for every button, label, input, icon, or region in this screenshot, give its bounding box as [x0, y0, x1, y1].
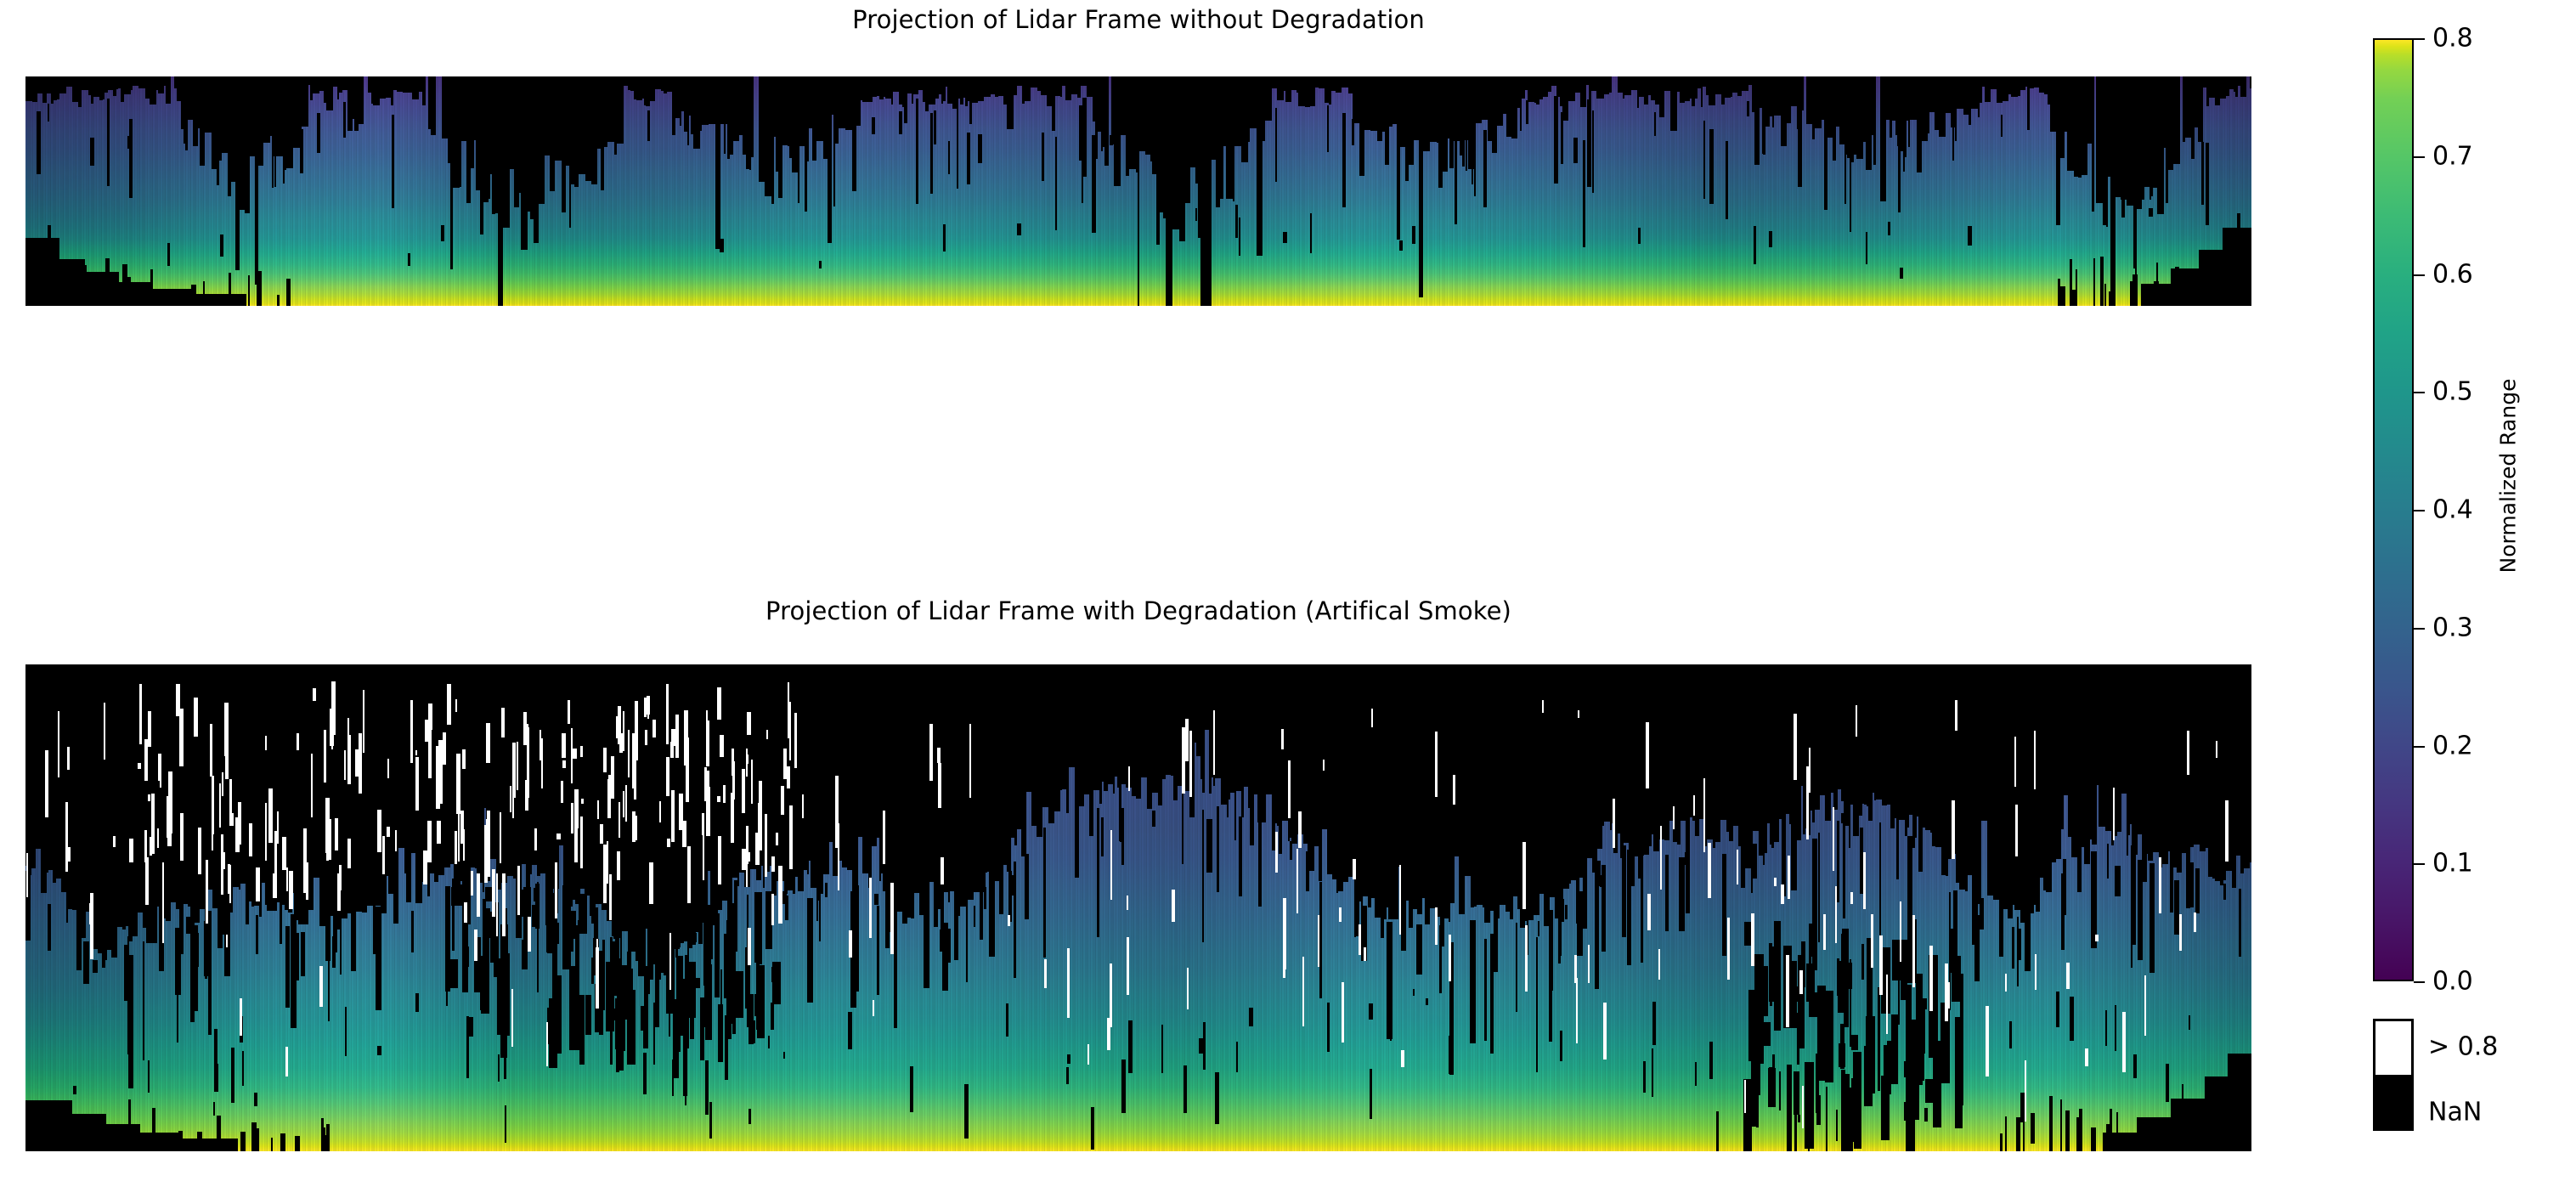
nan-column	[1709, 76, 1715, 105]
smoke-nan-finger	[83, 941, 89, 984]
nan-speck	[1121, 1060, 1126, 1113]
smoke-nan-column	[1959, 664, 1965, 890]
over-range-speck	[755, 833, 760, 864]
smoke-nan-cluster	[599, 951, 603, 1034]
over-range-streak	[1929, 946, 1933, 1011]
nan-speck	[964, 1084, 969, 1139]
over-range-streak	[1603, 1003, 1607, 1060]
over-range-speck	[256, 867, 260, 901]
nan-speck	[1904, 1102, 1906, 1121]
smoke-nan-cluster	[771, 1003, 774, 1029]
nan-column	[422, 76, 426, 105]
nan-column	[2185, 76, 2191, 138]
smoke-nan-cluster	[1923, 1002, 1925, 1054]
over-range-streak	[1802, 1086, 1804, 1128]
over-range-speck	[1576, 978, 1578, 1043]
smoke-nan-finger	[2017, 917, 2019, 987]
over-range-speck	[337, 873, 341, 912]
over-range-speck	[344, 750, 346, 780]
nan-column	[709, 76, 715, 124]
nan-spike	[1897, 131, 1899, 147]
over-range-speck	[1281, 729, 1284, 749]
smoke-nan-finger	[2091, 851, 2097, 948]
over-range-speck	[666, 684, 669, 744]
nan-column	[1200, 76, 1206, 306]
smoke-nan-finger	[1490, 934, 1494, 1053]
over-range-speck	[574, 825, 578, 862]
over-range-speck	[148, 711, 151, 747]
over-range-speck	[1823, 914, 1826, 950]
over-range-speck	[555, 862, 557, 918]
nan-column	[2173, 76, 2180, 164]
nan-column	[359, 76, 364, 124]
nan-corner-spike	[62, 268, 66, 306]
nan-column	[276, 76, 283, 156]
nan-spike	[1455, 127, 1457, 224]
smoke-nan-cluster	[1808, 1084, 1810, 1151]
smoke-nan-column	[1745, 664, 1751, 868]
over-range-speck	[1182, 727, 1185, 794]
smoke-nan-cluster	[1851, 1035, 1858, 1050]
nan-spike	[1474, 122, 1476, 174]
nan-corner-spike	[248, 275, 250, 306]
nan-spike	[2162, 142, 2164, 208]
nan-corner-spike	[85, 1122, 90, 1151]
over-range-speck	[1788, 856, 1790, 899]
nan-spike	[1163, 107, 1166, 182]
nan-corner-spike	[2060, 1099, 2062, 1151]
over-range-speck	[682, 821, 686, 848]
nan-spike	[1654, 112, 1656, 136]
over-range-speck	[649, 862, 653, 904]
over-range-speck	[1879, 935, 1883, 995]
smoke-nan-cluster	[1861, 944, 1864, 980]
nan-spike	[2110, 140, 2112, 249]
over-range-speck	[1435, 732, 1438, 798]
smoke-nan-cluster	[705, 964, 712, 1040]
nan-speck	[1203, 1022, 1206, 1070]
smoke-nan-cluster	[1837, 958, 1839, 996]
nan-corner-spike	[2016, 1117, 2020, 1151]
nan-column	[2067, 76, 2074, 171]
smoke-nan-cluster	[1825, 991, 1833, 1082]
smoke-nan-column	[2084, 664, 2090, 864]
over-range-speck	[194, 698, 198, 737]
over-range-speck	[500, 812, 501, 864]
smoke-nan-finger	[894, 905, 897, 1028]
nan-speck	[1199, 1038, 1203, 1054]
over-range-speck	[1435, 907, 1438, 945]
smoke-nan-finger	[1722, 854, 1726, 955]
over-range-streak	[240, 998, 242, 1037]
smoke-nan-cluster	[730, 975, 737, 1013]
smoke-nan-finger	[853, 901, 856, 941]
smoke-nan-column	[1297, 664, 1303, 834]
over-range-speck	[789, 805, 793, 869]
over-range-speck	[427, 821, 432, 862]
nan-column	[373, 76, 380, 105]
nan-speck	[1888, 222, 1890, 235]
smoke-nan-finger	[208, 931, 210, 945]
over-range-speck	[151, 794, 155, 855]
smoke-nan-cluster	[1794, 1071, 1799, 1115]
nan-column	[1370, 76, 1377, 131]
over-range-speck	[574, 789, 579, 828]
nan-speck	[1449, 1036, 1453, 1073]
nan-column	[585, 76, 591, 181]
colorbar[interactable]: 0.00.10.20.30.40.50.60.70.8	[2373, 38, 2414, 981]
nan-corner-step	[25, 294, 246, 306]
over-range-speck	[198, 828, 201, 874]
nan-speck	[720, 239, 724, 253]
over-range-speck	[645, 730, 647, 745]
over-range-speck	[1296, 849, 1298, 914]
smoke-nan-column	[1215, 664, 1221, 778]
over-range-speck	[539, 730, 541, 760]
nan-corner-spike	[239, 300, 241, 306]
nan-spike	[1327, 105, 1329, 152]
nan-column	[1624, 76, 1631, 95]
smoke-nan-column	[342, 664, 347, 918]
nan-column	[984, 76, 991, 97]
over-range-speck	[1850, 892, 1853, 905]
nan-column	[591, 76, 597, 184]
nan-corner-spike	[2175, 267, 2179, 306]
over-range-speck	[1525, 925, 1528, 992]
smoke-nan-finger	[1577, 891, 1583, 956]
smoke-nan-finger	[186, 917, 191, 934]
nan-spike	[807, 94, 809, 161]
nan-column	[133, 76, 138, 86]
nan-spike	[1118, 114, 1122, 132]
nan-column	[286, 76, 293, 168]
nan-column	[302, 76, 308, 127]
nan-column	[166, 76, 171, 104]
nan-speck	[2149, 208, 2153, 217]
over-range-speck	[759, 781, 762, 823]
nan-speck	[1195, 208, 1197, 220]
nan-corner-spike	[2076, 269, 2077, 306]
over-range-speck	[1359, 924, 1361, 955]
nan-speck	[1709, 1042, 1713, 1079]
over-range-speck	[1318, 915, 1319, 967]
smoke-nan-column	[477, 664, 483, 883]
over-range-speck	[835, 776, 839, 848]
over-range-speck	[517, 866, 520, 915]
nan-corner-spike	[187, 290, 189, 306]
nan-column	[1353, 76, 1359, 123]
lidar-projection-panel-without-degradation[interactable]	[25, 76, 2251, 306]
nan-column	[138, 76, 145, 88]
nan-column	[555, 76, 562, 161]
over-range-speck	[771, 856, 775, 872]
smoke-nan-finger	[1841, 813, 1847, 824]
smoke-nan-finger	[1595, 873, 1599, 990]
nan-speck	[1866, 232, 1867, 264]
nan-speck	[1754, 226, 1756, 265]
smoke-nan-cluster	[571, 920, 573, 940]
nan-speck	[1249, 1008, 1253, 1027]
nan-spike	[569, 142, 571, 228]
smoke-nan-cluster	[1763, 1022, 1771, 1046]
over-range-speck	[1955, 700, 1957, 731]
smoke-nan-finger	[1516, 923, 1517, 1012]
nan-column	[25, 76, 32, 101]
nan-speck	[1017, 223, 1021, 235]
nan-column	[952, 76, 958, 109]
smoke-nan-finger	[2195, 868, 2200, 913]
over-range-speck	[2216, 741, 2217, 758]
nan-speck	[1327, 1003, 1330, 1052]
nan-corner-spike	[197, 1132, 202, 1151]
smoke-nan-finger	[332, 936, 336, 968]
nan-column	[733, 76, 739, 141]
smoke-nan-finger	[715, 913, 720, 997]
nan-column	[1342, 76, 1348, 88]
nan-speck	[1968, 226, 1972, 246]
over-range-speck	[180, 813, 184, 862]
nan-spike	[343, 102, 346, 138]
smoke-nan-cluster	[718, 1004, 723, 1062]
over-range-speck	[144, 739, 148, 780]
over-range-speck	[210, 724, 212, 777]
nan-corner-spike	[2226, 1105, 2228, 1151]
over-range-speck	[517, 742, 518, 790]
smoke-nan-finger	[807, 898, 813, 1003]
nan-corner-spike	[68, 1140, 70, 1151]
smoke-nan-cluster	[647, 918, 653, 980]
smoke-nan-column	[111, 664, 117, 958]
nan-column	[1423, 76, 1430, 151]
smoke-nan-cluster	[690, 933, 697, 942]
smoke-nan-cluster	[532, 905, 537, 926]
over-range-speck	[1399, 865, 1401, 935]
nan-spike	[1573, 138, 1578, 163]
nan-spike	[1483, 130, 1487, 207]
smoke-nan-column	[1876, 664, 1882, 800]
nan-corner-spike	[203, 281, 205, 306]
nan-speck	[1900, 268, 1903, 279]
over-range-speck	[238, 802, 241, 845]
nan-corner-spike	[321, 1135, 326, 1151]
smoke-nan-finger	[819, 886, 821, 941]
smoke-nan-cluster	[490, 912, 494, 963]
nan-corner-spike	[138, 1139, 141, 1151]
nan-column	[2167, 76, 2173, 170]
smoke-nan-cluster	[630, 930, 638, 952]
over-range-speck	[1127, 896, 1128, 910]
smoke-nan-cluster	[549, 998, 557, 1068]
smoke-nan-finger	[825, 883, 828, 897]
nan-column	[636, 76, 642, 100]
over-range-speck	[623, 711, 624, 751]
smoke-nan-cluster	[1891, 1014, 1898, 1084]
nan-column	[1081, 76, 1087, 86]
nan-spike	[967, 133, 970, 184]
nan-corner-spike	[2093, 258, 2095, 306]
nan-speck	[73, 1086, 76, 1094]
smoke-nan-cluster	[1925, 1079, 1933, 1103]
over-range-speck	[1647, 894, 1651, 930]
smoke-nan-finger	[1025, 854, 1029, 919]
nan-corner-spike	[2151, 1122, 2154, 1151]
nan-spike	[833, 116, 835, 206]
over-range-speck	[2095, 935, 2099, 941]
nan-column	[1725, 76, 1731, 98]
over-range-speck	[265, 736, 267, 750]
nan-column	[1971, 76, 1978, 109]
smoke-nan-finger	[1597, 861, 1601, 886]
over-range-speck	[67, 747, 70, 770]
over-range-speck	[148, 794, 150, 800]
nan-column	[124, 76, 131, 94]
nan-spike	[1726, 141, 1728, 219]
smoke-nan-cluster	[1850, 959, 1851, 1047]
smoke-nan-column	[1544, 664, 1550, 926]
smoke-nan-finger	[1627, 850, 1631, 964]
smoke-nan-column	[1093, 664, 1099, 790]
nan-column	[503, 76, 510, 228]
nan-column	[607, 76, 614, 142]
over-range-speck	[669, 933, 671, 990]
smoke-nan-cluster	[1770, 956, 1772, 1007]
colorbar-tick-label: 0.5	[2432, 377, 2473, 407]
smoke-nan-finger	[285, 926, 290, 1009]
nan-column	[72, 76, 78, 102]
smoke-nan-cluster	[1916, 974, 1923, 1086]
nan-spike	[1561, 112, 1563, 163]
smoke-nan-cluster	[1806, 963, 1815, 1002]
nan-corner-spike	[2106, 1124, 2111, 1151]
over-range-speck	[2113, 788, 2115, 839]
smoke-nan-finger	[2115, 866, 2121, 896]
smoke-nan-cluster	[679, 1003, 682, 1032]
over-range-speck	[1751, 913, 1754, 966]
over-range-speck	[765, 814, 767, 877]
over-range-speck	[502, 873, 506, 936]
over-range-speck	[2194, 913, 2196, 932]
over-range-speck	[303, 853, 306, 893]
nan-spike	[1952, 102, 1954, 161]
smoke-nan-column	[2162, 664, 2168, 864]
smoke-nan-cluster	[660, 890, 664, 973]
over-range-speck	[158, 754, 161, 781]
nan-corner-spike	[2123, 1134, 2125, 1151]
colorbar-tick-mark	[2414, 274, 2425, 276]
nan-column	[412, 76, 419, 99]
smoke-nan-column	[2200, 664, 2206, 851]
over-range-speck	[634, 735, 636, 800]
nan-column	[1764, 76, 1770, 127]
nan-corner-spike	[2156, 263, 2158, 306]
over-range-speck	[138, 763, 141, 769]
over-range-speck	[652, 720, 656, 737]
nan-speck	[1310, 213, 1312, 252]
nan-spike	[957, 106, 958, 189]
over-range-speck	[457, 762, 459, 780]
smoke-nan-cluster	[684, 997, 689, 1048]
nan-speck	[672, 1060, 674, 1096]
nan-speck	[1066, 1067, 1069, 1084]
nan-spike	[916, 99, 918, 204]
smoke-nan-cluster	[724, 934, 731, 998]
nan-speck	[910, 1066, 913, 1113]
over-range-speck	[596, 939, 598, 958]
over-range-speck	[781, 786, 784, 816]
nan-speck	[2115, 1005, 2116, 1051]
nan-speck	[1006, 1003, 1008, 1037]
smoke-nan-finger	[1306, 851, 1309, 891]
nan-spike	[1747, 101, 1749, 116]
over-range-speck	[2015, 805, 2018, 856]
smoke-nan-finger	[942, 923, 948, 992]
smoke-nan-finger	[376, 907, 381, 1010]
smoke-nan-finger	[1980, 898, 1984, 930]
smoke-nan-cluster	[504, 998, 506, 1078]
smoke-nan-column	[924, 664, 929, 988]
nan-spike	[1592, 110, 1594, 193]
over-range-speck	[487, 811, 490, 839]
smoke-nan-finger	[1549, 910, 1553, 991]
nan-column	[263, 76, 270, 143]
nan-speck	[2237, 213, 2240, 229]
smoke-nan-column	[1221, 664, 1227, 805]
nan-speck	[214, 1029, 217, 1082]
smoke-nan-cluster	[485, 887, 492, 901]
over-range-streak	[2025, 1060, 2026, 1122]
over-range-speck	[704, 767, 707, 802]
over-range-speck	[776, 833, 778, 846]
colorbar-tick-mark	[2414, 863, 2425, 865]
smoke-nan-finger	[1837, 821, 1839, 902]
over-range-streak	[1342, 982, 1344, 1043]
smoke-nan-column	[2071, 664, 2077, 857]
nan-column	[885, 76, 891, 99]
over-range-speck	[474, 930, 477, 961]
over-range-speck	[289, 871, 293, 909]
smoke-nan-column	[233, 664, 239, 887]
smoke-nan-cluster	[1952, 956, 1961, 1002]
nan-spike	[2121, 133, 2125, 218]
nan-column	[1139, 76, 1145, 151]
nan-column	[205, 76, 212, 133]
colorbar-tick-label: 0.6	[2432, 259, 2473, 289]
smoke-nan-column	[1477, 664, 1483, 905]
smoke-nan-finger	[291, 914, 297, 1028]
smoke-nan-cluster	[607, 977, 613, 1002]
legend-swatch-over-range	[2375, 1021, 2411, 1075]
nan-corner-step	[25, 1139, 238, 1151]
over-range-speck	[789, 702, 791, 761]
smoke-nan-cluster	[1841, 934, 1845, 997]
smoke-nan-finger	[93, 960, 98, 973]
smoke-nan-finger	[446, 904, 448, 1005]
over-range-speck	[2187, 731, 2189, 775]
smoke-nan-cluster	[1761, 966, 1768, 1016]
smoke-nan-finger	[2107, 844, 2109, 879]
nan-speck	[1840, 1024, 1844, 1069]
nan-speck	[2133, 1054, 2137, 1077]
over-range-speck	[742, 769, 745, 813]
nan-corner-spike	[2116, 1112, 2118, 1151]
over-range-speck	[463, 829, 465, 862]
over-range-speck	[228, 864, 230, 889]
over-range-speck	[1323, 760, 1325, 771]
nan-column	[93, 76, 99, 97]
nan-column	[1774, 76, 1781, 116]
lidar-projection-panel-with-degradation[interactable]	[25, 664, 2251, 1151]
smoke-nan-cluster	[1790, 986, 1799, 1002]
